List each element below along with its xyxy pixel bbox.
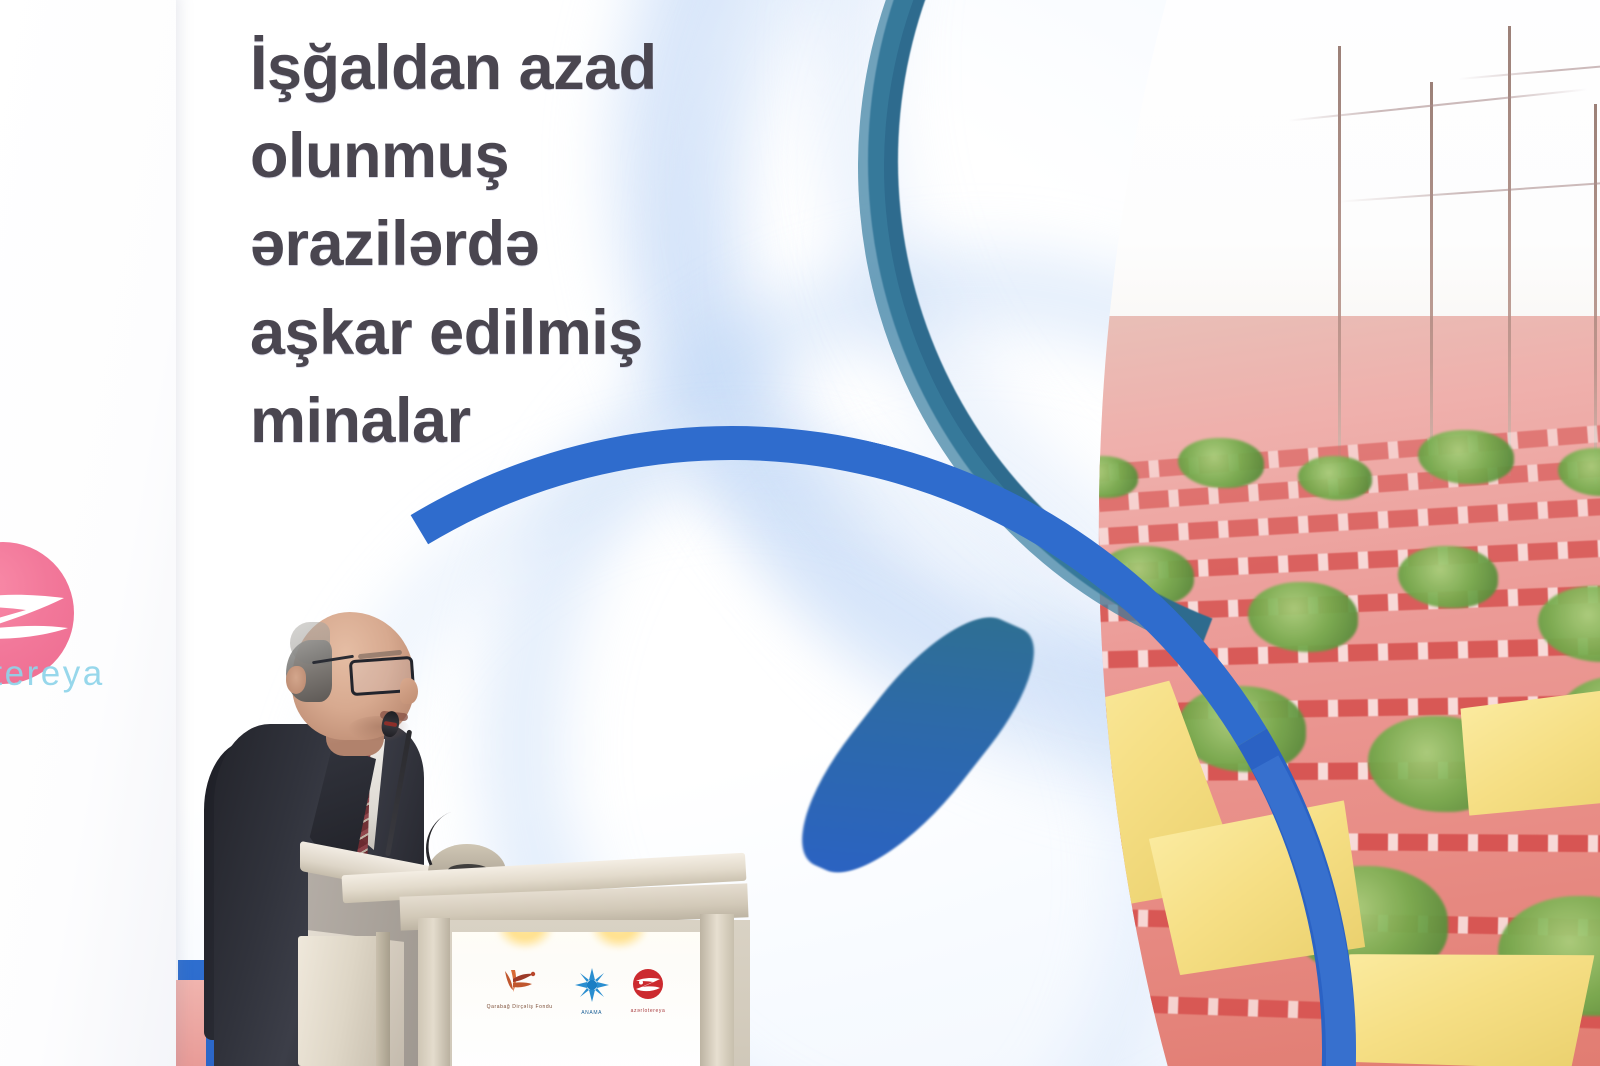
slide-headline-line: minalar (250, 377, 870, 465)
slide-lower-left-pink-patch (172, 980, 206, 1066)
azerlotereya-circle-z-icon (632, 968, 664, 1000)
left-sponsor-banner: rlotereya (0, 0, 176, 1066)
podium-logo-anama: ANAMA (575, 968, 609, 1016)
podium-left-pillar (418, 918, 450, 1066)
slide-headline-line: olunmuş (250, 112, 870, 200)
podium-logo-azerlotereya: azərlotereya (631, 968, 666, 1014)
azerlotereya-z-swoosh-icon (0, 590, 70, 642)
photo-yellow-tarp (1334, 937, 1600, 1066)
podium-logo-caption-anama: ANAMA (575, 1010, 609, 1016)
slide-headline: İşğaldan azadolunmuşərazilərdəaşkar edil… (250, 24, 870, 465)
podium-sign-logo-row: Qarabağ Dirçəliş Fondu (452, 968, 700, 1016)
podium-lower-ledge-edge (376, 932, 390, 1066)
slide-headline-line: aşkar edilmiş (250, 289, 870, 377)
podium-lower-ledge (298, 936, 382, 1066)
speaker-nose (400, 678, 418, 704)
conference-presentation-scene: İşğaldan azadolunmuşərazilərdəaşkar edil… (0, 0, 1600, 1066)
podium-logo-sign: Qarabağ Dirçəliş Fondu (452, 932, 700, 1066)
anama-eight-point-star-icon (575, 968, 609, 1002)
podium-logo-caption-azerlotereya: azərlotereya (631, 1008, 666, 1014)
qarabag-dircelis-fondu-bird-icon (499, 968, 541, 996)
speaker-chin-shadow (348, 716, 410, 742)
podium-logo-qarabag-dircelis-fondu: Qarabağ Dirçəliş Fondu (487, 968, 553, 1010)
slide-headline-line: ərazilərdə (250, 200, 870, 288)
speaker-ear (286, 666, 306, 694)
podium-logo-caption-qarabag: Qarabağ Dirçəliş Fondu (487, 1004, 553, 1010)
azerlotereya-wordmark: rlotereya (0, 654, 105, 694)
podium-right-pillar (700, 914, 734, 1066)
sign-lamp-left (498, 932, 552, 948)
sign-lamp-right (592, 932, 646, 948)
slide-headline-line: İşğaldan azad (250, 24, 870, 112)
